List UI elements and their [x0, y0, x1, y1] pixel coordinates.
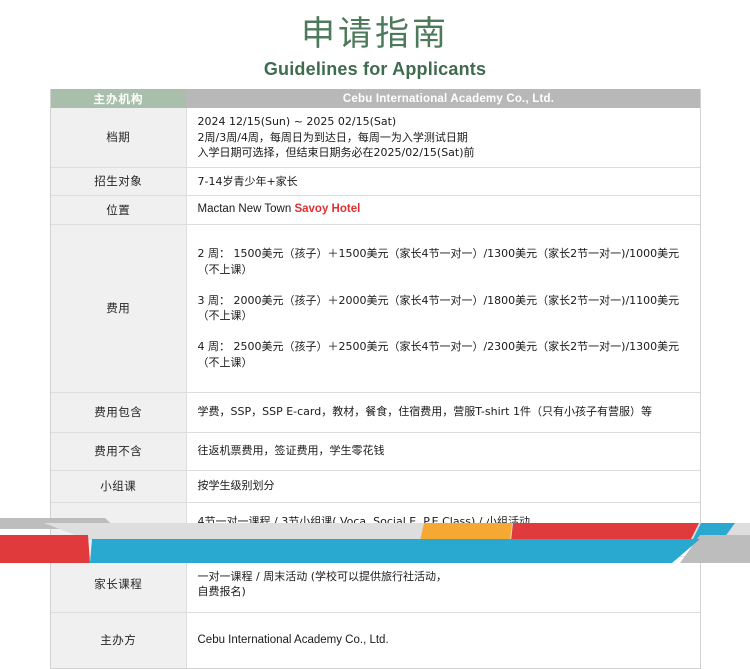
program-details-table: 主办机构 Cebu International Academy Co., Ltd… [50, 89, 701, 669]
table-body: 主办机构 Cebu International Academy Co., Ltd… [51, 89, 700, 668]
row-value-fee-includes: 学费，SSP，SSP E-card，教材，餐食，住宿费用，营服T-shirt 1… [186, 392, 700, 432]
row-value-location: Mactan New Town Savoy Hotel [186, 196, 700, 225]
ribbon-shape-red-right [511, 523, 699, 541]
location-hotel-highlight: Savoy Hotel [294, 203, 360, 215]
row-value-schedule: 2024 12/15(Sun) ~ 2025 02/15(Sat) 2周/3周/… [186, 108, 700, 167]
row-label-target-students: 招生对象 [51, 167, 186, 196]
ribbon-shape-red-left [0, 535, 90, 563]
fee-line-3weeks: 3 周： 2000美元（孩子）＋2000美元（家长4节一对一）/1800美元（家… [198, 293, 693, 324]
ribbon-svg [0, 505, 750, 563]
row-label-fee-includes: 费用包含 [51, 392, 186, 432]
row-label-schedule: 档期 [51, 108, 186, 167]
row-label-fees: 费用 [51, 224, 186, 392]
table-row: 招生对象 7-14岁青少年+家长 [51, 167, 700, 196]
header-cell-organizer-value: Cebu International Academy Co., Ltd. [186, 89, 700, 108]
row-value-target-students: 7-14岁青少年+家长 [186, 167, 700, 196]
table-row: 费用包含 学费，SSP，SSP E-card，教材，餐食，住宿费用，营服T-sh… [51, 392, 700, 432]
row-label-parent-program: 家长课程 [51, 556, 186, 612]
table-row: 小组课 按学生级别划分 [51, 470, 700, 502]
row-value-fee-excludes: 往返机票费用，签证费用，学生零花钱 [186, 432, 700, 470]
table-row: 家长课程 一对一课程 / 周末活动 (学校可以提供旅行社活动， 自费报名) [51, 556, 700, 612]
row-value-parent-program: 一对一课程 / 周末活动 (学校可以提供旅行社活动， 自费报名) [186, 556, 700, 612]
header-cell-organizer-label: 主办机构 [51, 89, 186, 108]
table-row: 费用 2 周： 1500美元（孩子）＋1500美元（家长4节一对一）/1300美… [51, 224, 700, 392]
row-label-fee-excludes: 费用不含 [51, 432, 186, 470]
bottom-decoration-ribbon [0, 505, 750, 563]
row-value-group-class: 按学生级别划分 [186, 470, 700, 502]
location-text: Mactan New Town [198, 203, 295, 215]
row-label-location: 位置 [51, 196, 186, 225]
ribbon-shape-blue-main [90, 539, 700, 563]
fee-line-4weeks: 4 周： 2500美元（孩子）＋2500美元（家长4节一对一）/2300美元（家… [198, 339, 693, 370]
row-value-organizer: Cebu International Academy Co., Ltd. [186, 612, 700, 668]
row-value-fees: 2 周： 1500美元（孩子）＋1500美元（家长4节一对一）/1300美元（家… [186, 224, 700, 392]
page-title-english: Guidelines for Applicants [0, 57, 750, 81]
fee-line-2weeks: 2 周： 1500美元（孩子）＋1500美元（家长4节一对一）/1300美元（家… [198, 246, 693, 277]
table-header-row: 主办机构 Cebu International Academy Co., Ltd… [51, 89, 700, 108]
row-label-group-class: 小组课 [51, 470, 186, 502]
row-label-organizer: 主办方 [51, 612, 186, 668]
ribbon-shape-orange [420, 523, 512, 541]
page-title-chinese: 申请指南 [0, 14, 750, 54]
table-row: 费用不含 往返机票费用，签证费用，学生零花钱 [51, 432, 700, 470]
table-row: 主办方 Cebu International Academy Co., Ltd. [51, 612, 700, 668]
page-title-block: 申请指南 Guidelines for Applicants [0, 0, 750, 81]
table-row: 位置 Mactan New Town Savoy Hotel [51, 196, 700, 225]
table-row: 档期 2024 12/15(Sun) ~ 2025 02/15(Sat) 2周/… [51, 108, 700, 167]
